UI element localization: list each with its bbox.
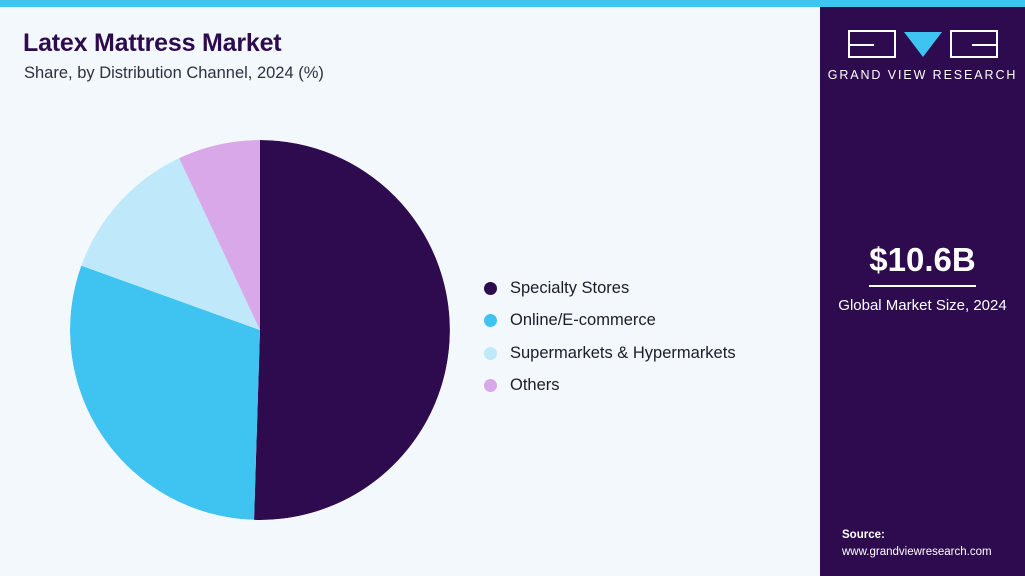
logo-triangle-icon (904, 32, 942, 57)
legend-item-label: Supermarkets & Hypermarkets (510, 344, 736, 363)
source-url[interactable]: www.grandviewresearch.com (842, 544, 1022, 561)
logo-left-bracket-icon (848, 30, 896, 58)
pie-chart (70, 140, 450, 520)
chart-panel: Latex Mattress Market Share, by Distribu… (0, 7, 820, 576)
legend-color-swatch (484, 379, 497, 392)
legend-item-specialty-stores[interactable]: Specialty Stores (484, 272, 804, 305)
logo-right-bracket-icon (950, 30, 998, 58)
pie-svg (70, 140, 450, 520)
stat-caption: Global Market Size, 2024 (820, 296, 1025, 316)
stat-block: $10.6B Global Market Size, 2024 (820, 243, 1025, 315)
legend-item-label: Others (510, 376, 560, 395)
page-subtitle: Share, by Distribution Channel, 2024 (%) (24, 64, 324, 83)
sidebar: GRAND VIEW RESEARCH $10.6B Global Market… (820, 7, 1025, 576)
legend-color-swatch (484, 347, 497, 360)
page-title: Latex Mattress Market (23, 29, 281, 58)
legend-color-swatch (484, 282, 497, 295)
source-block: Source: www.grandviewresearch.com (842, 527, 1022, 562)
brand-name: GRAND VIEW RESEARCH (820, 68, 1025, 82)
brand-logo (820, 28, 1025, 60)
chart-legend: Specialty Stores Online/E-commerce Super… (484, 272, 804, 402)
accent-top-bar (0, 0, 1025, 7)
source-label: Source: (842, 527, 1022, 544)
brand-block: GRAND VIEW RESEARCH (820, 28, 1025, 82)
chart-canvas: Latex Mattress Market Share, by Distribu… (0, 0, 1025, 576)
legend-item-supermarkets-hypermarkets[interactable]: Supermarkets & Hypermarkets (484, 337, 804, 370)
legend-item-label: Online/E-commerce (510, 311, 656, 330)
legend-item-others[interactable]: Others (484, 370, 804, 403)
stat-value: $10.6B (869, 243, 975, 287)
legend-item-online-ecommerce[interactable]: Online/E-commerce (484, 305, 804, 338)
legend-item-label: Specialty Stores (510, 279, 629, 298)
legend-color-swatch (484, 314, 497, 327)
pie-slice[interactable] (254, 140, 450, 520)
